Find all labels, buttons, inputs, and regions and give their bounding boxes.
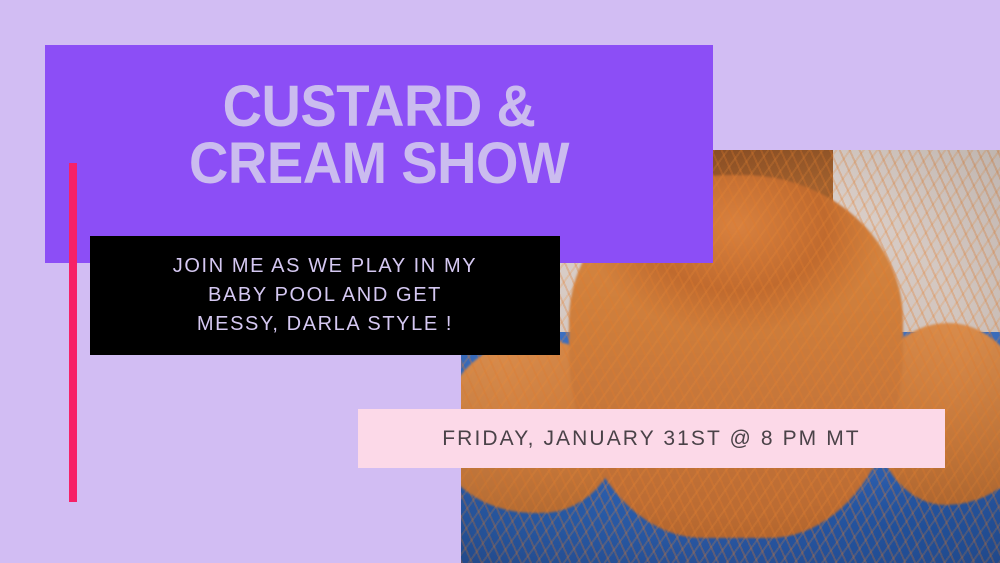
page-title: CUSTARD & CREAM SHOW <box>65 79 693 193</box>
accent-line <box>69 163 77 502</box>
event-flyer: CUSTARD & CREAM SHOW JOIN ME AS WE PLAY … <box>0 0 1000 563</box>
subtitle-box: JOIN ME AS WE PLAY IN MY BABY POOL AND G… <box>90 236 560 355</box>
title-block: CUSTARD & CREAM SHOW <box>45 45 713 263</box>
event-date-text: FRIDAY, JANUARY 31ST @ 8 PM MT <box>442 427 860 451</box>
date-banner: FRIDAY, JANUARY 31ST @ 8 PM MT <box>358 409 945 468</box>
subtitle-text: JOIN ME AS WE PLAY IN MY BABY POOL AND G… <box>173 252 477 339</box>
